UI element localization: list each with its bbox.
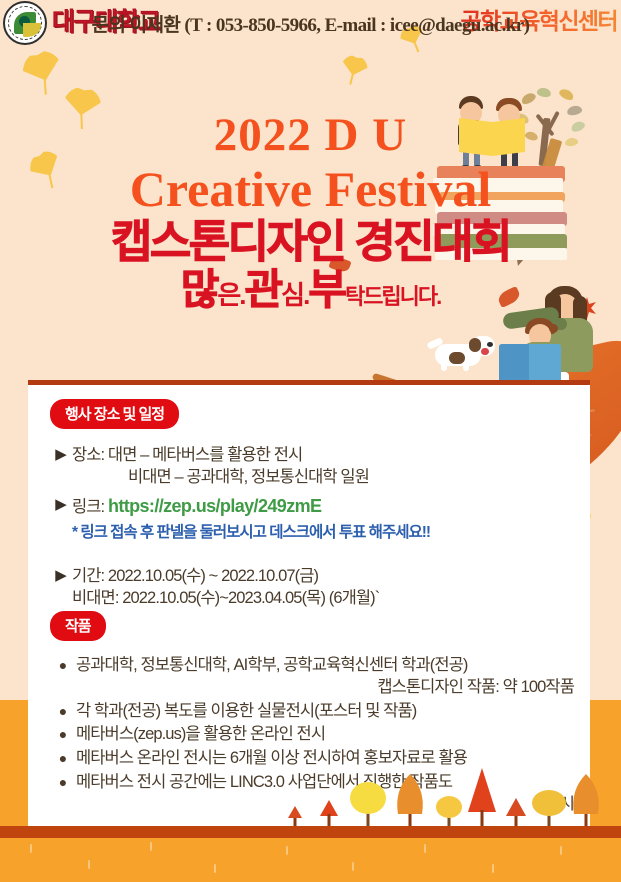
- period-text: 기간: 2022.10.05(수) ~ 2022.10.07(금) 비대면: 2…: [72, 566, 379, 610]
- list-item: ● 각 학과(전공) 복도를 이용한 실물전시(포스터 및 작품): [50, 701, 578, 723]
- list-item: ● 공과대학, 정보통신대학, AI학부, 공학교육혁신센터 학과(전공) 캡스…: [50, 655, 578, 699]
- triangle-bullet-icon: ▶: [50, 495, 72, 515]
- work-item-line-2: 캡스톤디자인 작품: 약 100작품: [76, 677, 578, 699]
- work-item-text: 메타버스(zep.us)을 활용한 온라인 전시: [76, 724, 325, 746]
- venue-text: 장소: 대면 – 메타버스를 활용한 전시 비대면 – 공과대학, 정보통신대학…: [72, 445, 369, 489]
- link-row[interactable]: ▶ 링크: https://zep.us/play/249zmE: [50, 495, 570, 519]
- period-line-2: 비대면: 2022.10.05(수)~2023.04.05(목) (6개월)`: [72, 588, 379, 610]
- triangle-bullet-icon: ▶: [50, 445, 72, 465]
- dog-icon: [435, 336, 497, 370]
- contact-info: 문의 이재환 (T : 053-850-5966, E-mail : icee@…: [0, 10, 621, 37]
- poster-canvas: 대구대학교 공학교육혁신센터: [0, 0, 621, 882]
- footer-bar: [0, 838, 621, 882]
- round-bullet-icon: ●: [50, 655, 76, 675]
- triangle-bullet-icon: ▶: [50, 566, 72, 586]
- period-row: ▶ 기간: 2022.10.05(수) ~ 2022.10.07(금) 비대면:…: [50, 566, 570, 610]
- venue-line-1: 장소: 대면 – 메타버스를 활용한 전시: [72, 446, 302, 464]
- period-line-1: 기간: 2022.10.05(수) ~ 2022.10.07(금): [72, 567, 318, 585]
- event-link[interactable]: https://zep.us/play/249zmE: [108, 496, 321, 516]
- title-line-4-e: 부: [308, 266, 345, 313]
- work-item-text: 공과대학, 정보통신대학, AI학부, 공학교육혁신센터 학과(전공) 캡스톤디…: [76, 655, 578, 699]
- round-bullet-icon: ●: [50, 724, 76, 744]
- works-badge: 작품: [50, 611, 106, 641]
- title-line-4-f: 탁드립니다.: [345, 284, 440, 309]
- work-item-text: 각 학과(전공) 복도를 이용한 실물전시(포스터 및 작품): [76, 701, 416, 723]
- vote-note: * 링크 접속 후 판넬을 둘러보시고 데스크에서 투표 해주세요!!: [50, 520, 570, 542]
- title-line-2: Creative Festival: [0, 163, 621, 216]
- title-line-4-c: 관: [245, 266, 282, 313]
- title-line-4-b: 은.: [217, 280, 244, 310]
- title-line-1: 2022 D U: [0, 112, 621, 159]
- round-bullet-icon: ●: [50, 701, 76, 721]
- schedule-section: 행사 장소 및 일정 ▶ 장소: 대면 – 메타버스를 활용한 전시 비대면 –…: [50, 399, 570, 610]
- link-label: 링크:: [72, 498, 104, 516]
- title-line-4-d: 심.: [281, 280, 308, 310]
- link-text: 링크: https://zep.us/play/249zmE: [72, 495, 321, 519]
- list-item: ● 메타버스(zep.us)을 활용한 온라인 전시: [50, 724, 578, 746]
- title-line-4-a: 많: [181, 266, 218, 313]
- autumn-trees-icon: [0, 760, 621, 830]
- schedule-badge: 행사 장소 및 일정: [50, 399, 179, 429]
- ground-strip: [0, 826, 621, 838]
- ginkgo-leaf-icon: [17, 46, 69, 97]
- work-item-line-1: 공과대학, 정보통신대학, AI학부, 공학교육혁신센터 학과(전공): [76, 656, 468, 674]
- venue-row: ▶ 장소: 대면 – 메타버스를 활용한 전시 비대면 – 공과대학, 정보통신…: [50, 445, 570, 489]
- venue-line-2: 비대면 – 공과대학, 정보통신대학 일원: [72, 467, 369, 489]
- title-line-3: 캡스톤디자인 경진대회: [0, 218, 621, 265]
- ginkgo-leaf-icon: [337, 53, 371, 86]
- poster-title: 2022 D U Creative Festival 캡스톤디자인 경진대회 많…: [0, 112, 621, 311]
